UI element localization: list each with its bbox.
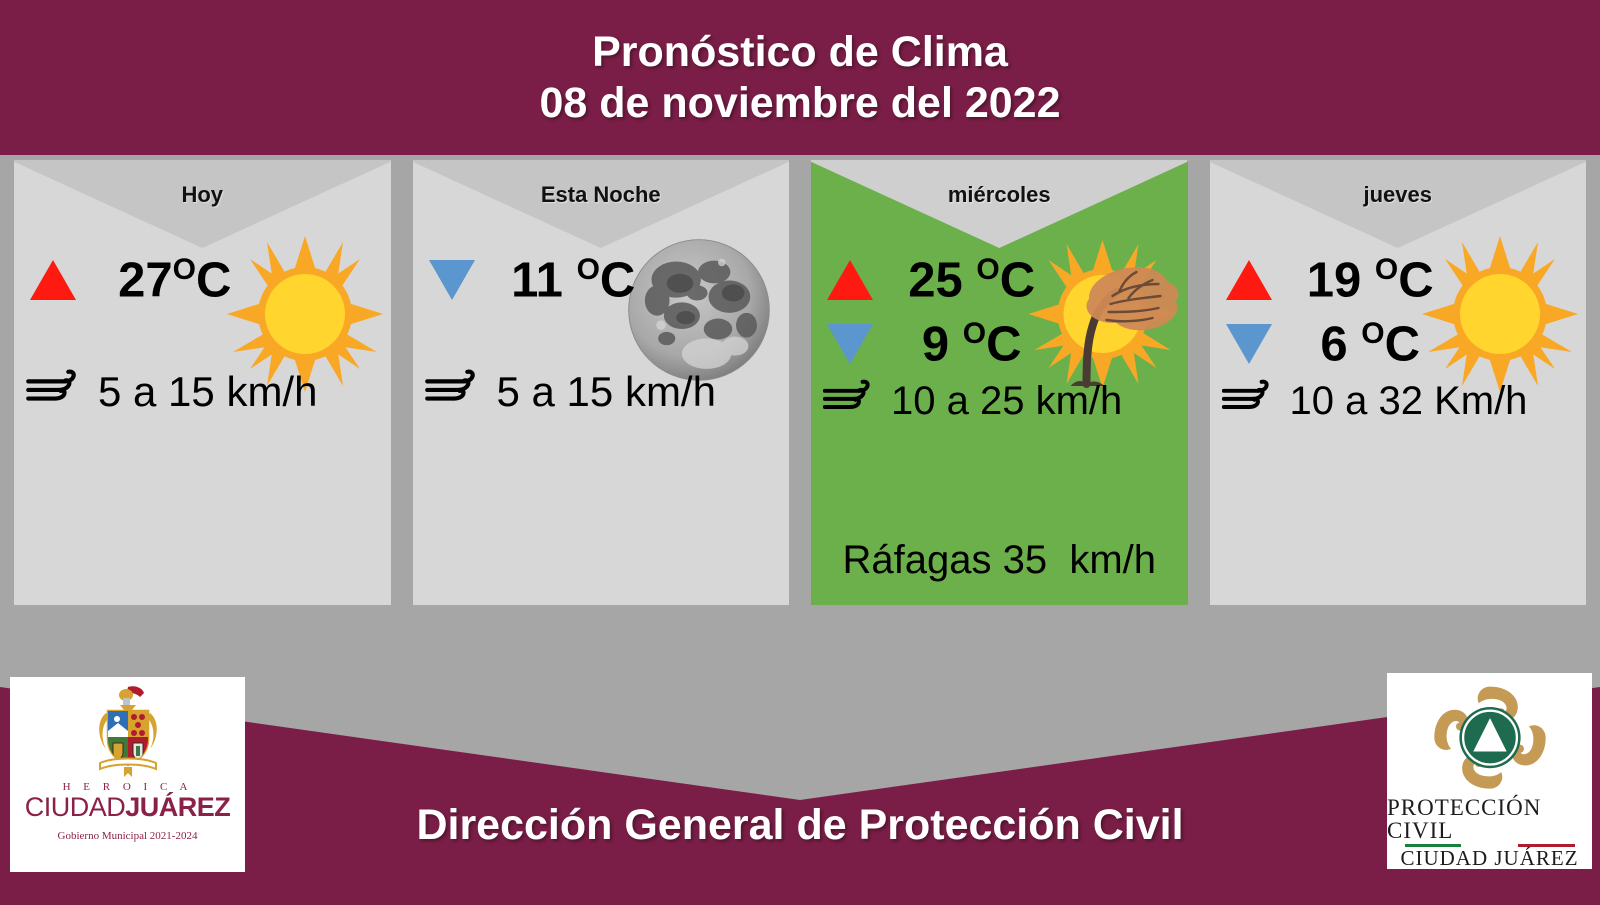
wind-speed-text: 10 a 32 Km/h [1290, 381, 1528, 421]
low-temp-value: 6 OC [1282, 319, 1459, 369]
high-temp-value: 27OC [86, 255, 263, 305]
card-body: 11 OC [413, 230, 790, 605]
wind-speed-text: 5 a 15 km/h [98, 371, 317, 413]
wind-row: 5 a 15 km/h [26, 368, 317, 415]
arrow-up-icon [1226, 260, 1272, 300]
temperature-block: 27OC [30, 248, 263, 312]
forecast-cards-row: Hoy [0, 160, 1600, 605]
temperature-block: 11 OC [429, 248, 662, 312]
weather-forecast-infographic: Pronóstico de Clima 08 de noviembre del … [0, 0, 1600, 905]
logo-proteccion-civil: PROTECCIÓN CIVIL CIUDAD JUÁREZ [1387, 673, 1592, 869]
wind-icon [425, 368, 483, 415]
card-body: 19 OC 6 OC [1210, 230, 1587, 605]
card-day-label: miércoles [811, 182, 1188, 208]
card-day-label: Hoy [14, 182, 391, 208]
high-temp-value: 25 OC [883, 255, 1060, 305]
forecast-card-esta-noche[interactable]: Esta Noche [413, 160, 790, 605]
low-temp-value: 9 OC [883, 319, 1060, 369]
wind-gusts-text: Ráfagas 35 km/h [811, 538, 1188, 583]
header-banner: Pronóstico de Clima 08 de noviembre del … [0, 0, 1600, 155]
logo-city-name: CIUDADJUÁREZ [25, 794, 231, 821]
temperature-block: 25 OC 9 OC [827, 248, 1060, 376]
wind-icon [26, 368, 84, 415]
logo-pc-title: PROTECCIÓN CIVIL [1387, 796, 1592, 842]
civil-protection-emblem-icon [1424, 681, 1556, 794]
wind-row: 10 a 25 km/h [823, 378, 1122, 423]
temperature-block: 19 OC 6 OC [1226, 248, 1459, 376]
page-title: Pronóstico de Clima [592, 28, 1008, 77]
card-day-label: Esta Noche [413, 182, 790, 208]
low-temp-row: 9 OC [827, 312, 1060, 376]
high-temp-row: 19 OC [1226, 248, 1459, 312]
wind-speed-text: 5 a 15 km/h [497, 371, 716, 413]
card-day-label: jueves [1210, 182, 1587, 208]
low-temp-row: 6 OC [1226, 312, 1459, 376]
wind-row: 5 a 15 km/h [425, 368, 716, 415]
high-temp-row: 25 OC [827, 248, 1060, 312]
arrow-down-icon [827, 324, 873, 364]
arrow-down-icon [1226, 324, 1272, 364]
arrow-down-icon [429, 260, 475, 300]
arrow-up-icon [827, 260, 873, 300]
wind-icon [1222, 378, 1276, 423]
wind-icon [823, 378, 877, 423]
high-temp-value: 19 OC [1282, 255, 1459, 305]
wind-speed-text: 10 a 25 km/h [891, 381, 1122, 421]
page-subtitle-date: 08 de noviembre del 2022 [539, 79, 1060, 128]
coat-of-arms-icon [84, 683, 172, 779]
low-temp-value: 11 OC [485, 255, 662, 305]
forecast-card-jueves[interactable]: jueves [1210, 160, 1587, 605]
high-temp-row: 27OC [30, 248, 263, 312]
forecast-card-miercoles[interactable]: miércoles [811, 160, 1188, 605]
card-body: 27OC [14, 230, 391, 605]
low-temp-row: 11 OC [429, 248, 662, 312]
forecast-card-hoy[interactable]: Hoy [14, 160, 391, 605]
footer-banner: H E R O I C A CIUDADJUÁREZ Gobierno Muni… [0, 605, 1600, 905]
logo-ciudad-juarez: H E R O I C A CIUDADJUÁREZ Gobierno Muni… [10, 677, 245, 872]
arrow-up-icon [30, 260, 76, 300]
logo-government-period: Gobierno Municipal 2021-2024 [58, 830, 198, 842]
wind-row: 10 a 32 Km/h [1222, 378, 1528, 423]
logo-pc-city: CIUDAD JUÁREZ [1400, 848, 1578, 869]
